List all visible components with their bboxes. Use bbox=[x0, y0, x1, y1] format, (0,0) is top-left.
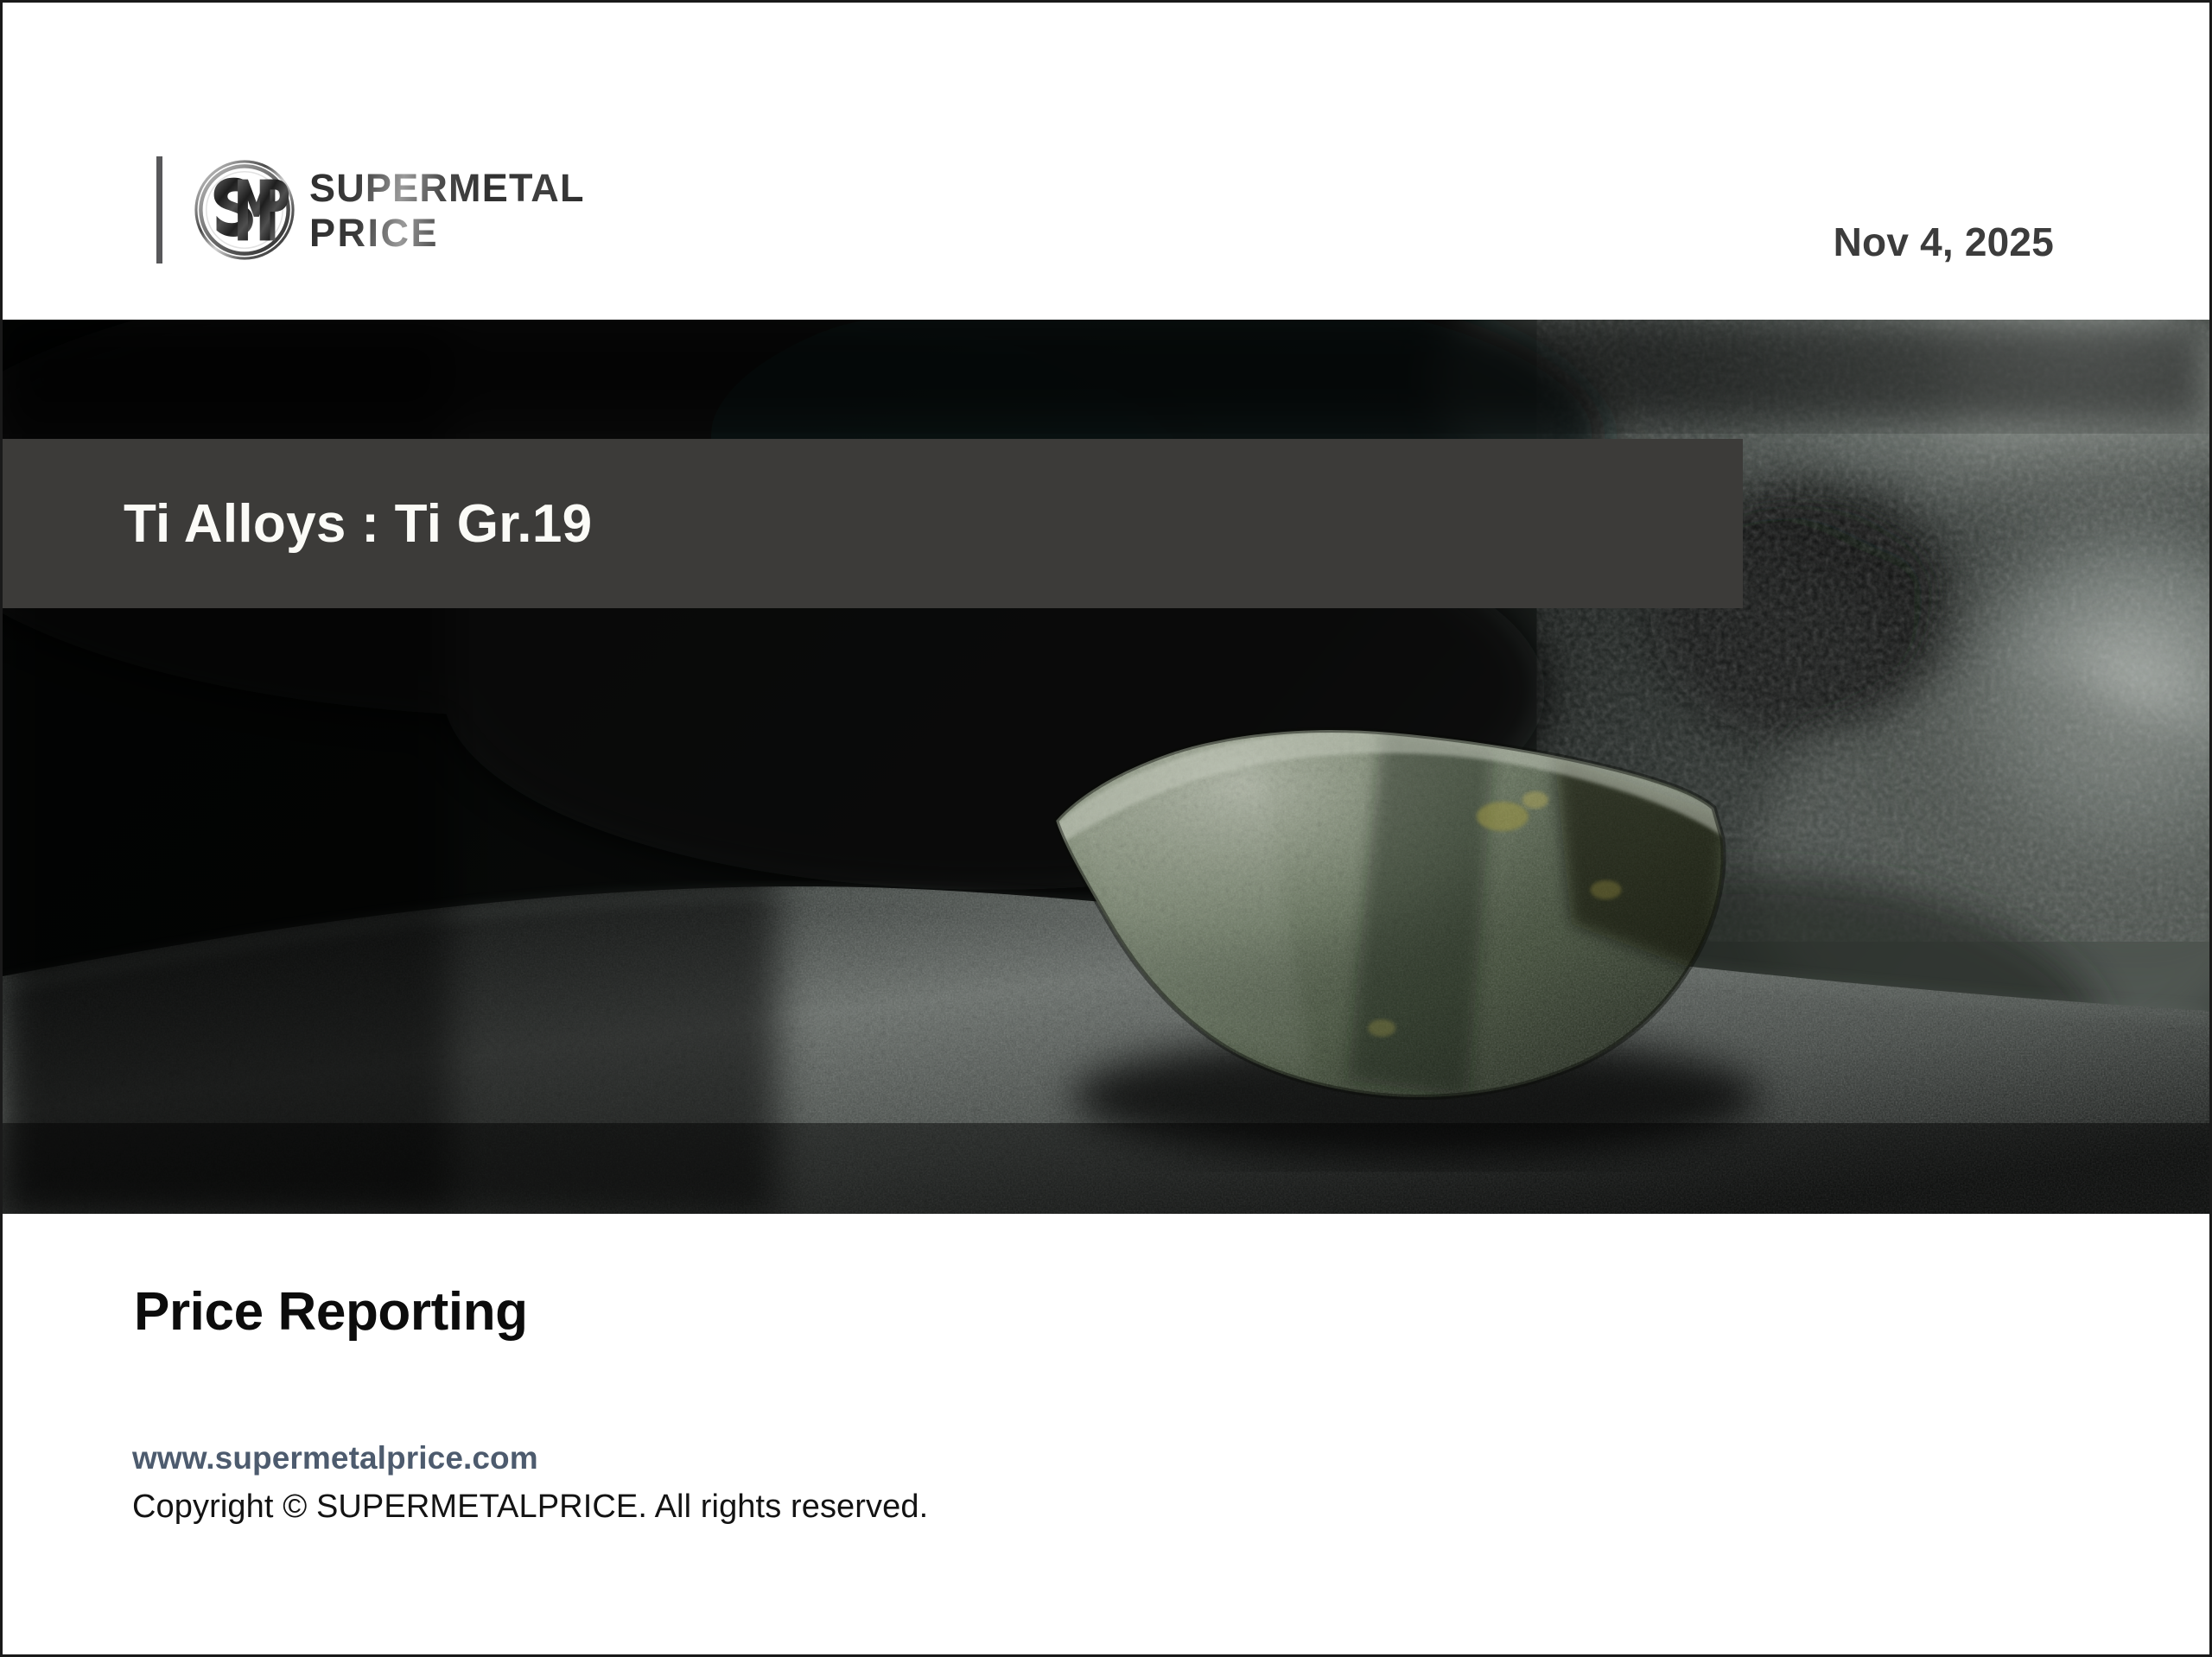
smp-logo-icon bbox=[194, 159, 296, 261]
footer-heading: Price Reporting bbox=[134, 1281, 528, 1343]
wordmark-line-supermetal: SUPERMETAL bbox=[309, 168, 585, 207]
brand-wordmark: SUPERMETAL PRICE bbox=[309, 168, 585, 252]
report-date: Nov 4, 2025 bbox=[1834, 219, 2054, 265]
page-header: SUPERMETAL PRICE Nov 4, 2025 bbox=[3, 3, 2209, 320]
report-cover-page: SUPERMETAL PRICE Nov 4, 2025 bbox=[0, 0, 2212, 1657]
commodity-title-banner: Ti Alloys : Ti Gr.19 bbox=[3, 439, 1743, 608]
website-link[interactable]: www.supermetalprice.com bbox=[132, 1440, 538, 1476]
page-title: Ti Alloys : Ti Gr.19 bbox=[124, 493, 592, 555]
copyright-notice: Copyright © SUPERMETALPRICE. All rights … bbox=[132, 1489, 928, 1526]
brand-lockup: SUPERMETAL PRICE bbox=[156, 149, 585, 270]
brand-divider-rule bbox=[156, 156, 162, 263]
wordmark-line-price: PRICE bbox=[309, 213, 585, 252]
page-footer: Price Reporting www.supermetalprice.com … bbox=[3, 1214, 2209, 1657]
